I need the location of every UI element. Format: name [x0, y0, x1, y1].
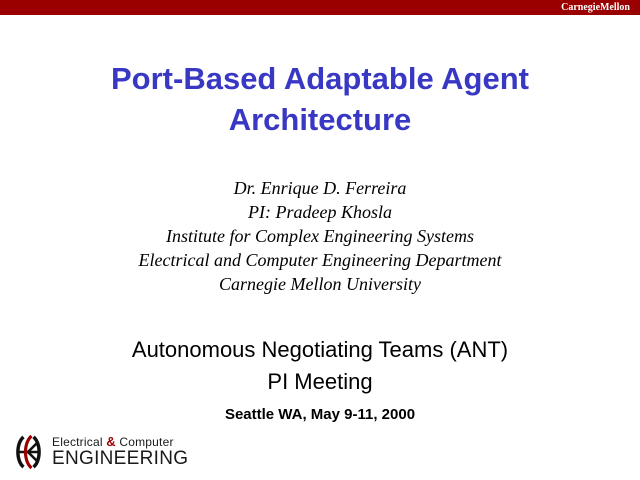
affiliation-institute: Institute for Complex Engineering System…	[0, 224, 640, 248]
ece-emblem-icon	[12, 434, 46, 470]
meeting-type: PI Meeting	[0, 366, 640, 398]
ece-logo-ampersand: &	[106, 434, 116, 449]
title-line-1: Port-Based Adaptable Agent	[0, 58, 640, 99]
page-title: Port-Based Adaptable Agent Architecture	[0, 58, 640, 140]
carnegie-mellon-wordmark: CarnegieMellon	[561, 1, 630, 14]
affiliation-university: Carnegie Mellon University	[0, 272, 640, 296]
principal-investigator: PI: Pradeep Khosla	[0, 200, 640, 224]
meeting-title-block: Autonomous Negotiating Teams (ANT) PI Me…	[0, 334, 640, 398]
ece-logo-line-1: Electrical & Computer	[52, 435, 212, 449]
presentation-slide: CarnegieMellon Port-Based Adaptable Agen…	[0, 0, 640, 480]
ece-logo-line-2: ENGINEERING	[52, 449, 212, 469]
author-name: Dr. Enrique D. Ferreira	[0, 176, 640, 200]
title-line-2: Architecture	[0, 99, 640, 140]
author-affiliation-block: Dr. Enrique D. Ferreira PI: Pradeep Khos…	[0, 176, 640, 296]
ece-logo-computer-text: Computer	[116, 435, 174, 449]
ece-logo-electrical-text: Electrical	[52, 435, 106, 449]
meeting-location-date: Seattle WA, May 9-11, 2000	[0, 405, 640, 425]
ece-department-logo: Electrical & Computer ENGINEERING	[12, 432, 212, 474]
ece-logo-text: Electrical & Computer ENGINEERING	[52, 435, 212, 469]
affiliation-department: Electrical and Computer Engineering Depa…	[0, 248, 640, 272]
top-banner: CarnegieMellon	[0, 0, 640, 15]
meeting-program-name: Autonomous Negotiating Teams (ANT)	[0, 334, 640, 366]
